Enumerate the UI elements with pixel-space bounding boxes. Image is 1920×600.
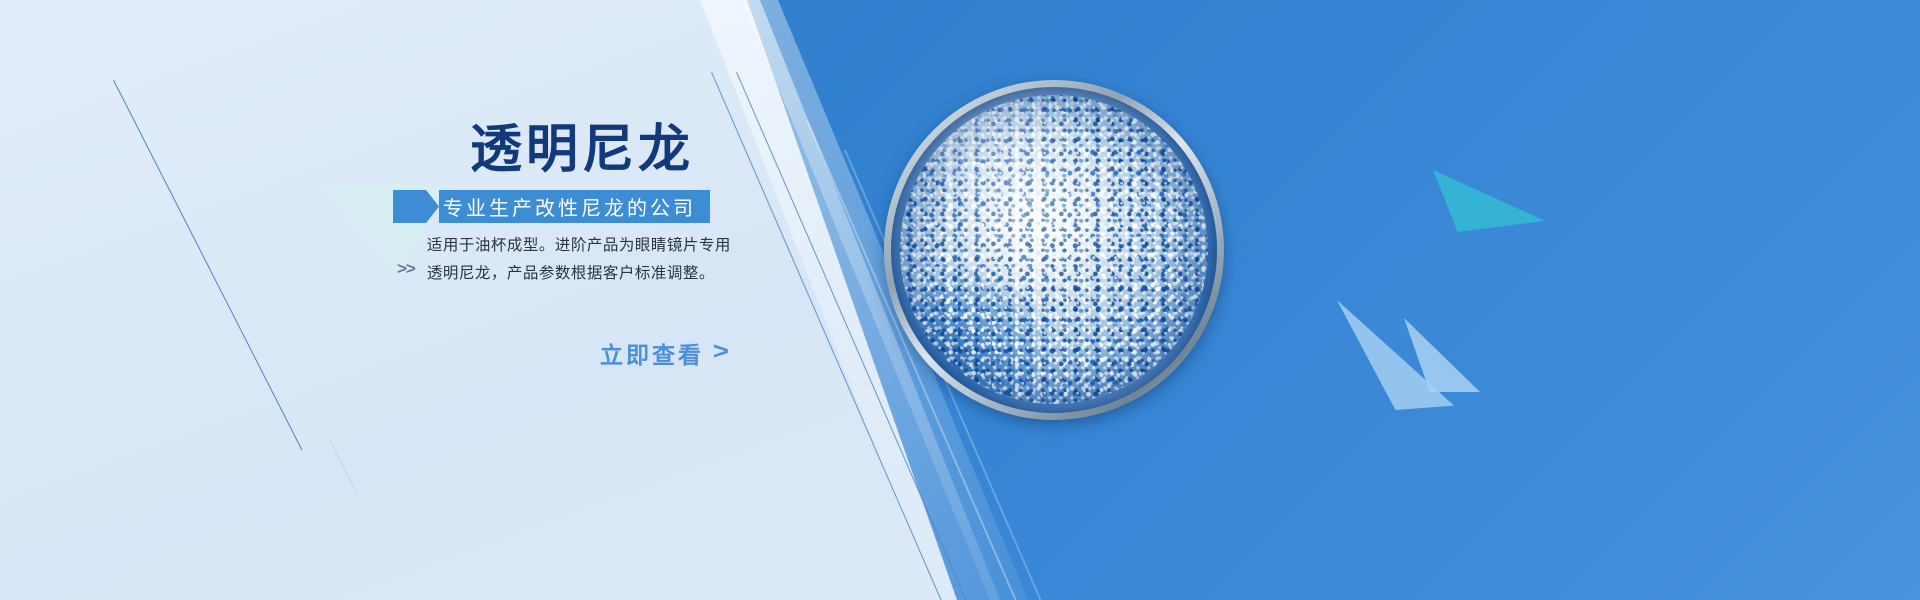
cta-view-now-button[interactable]: 立即查看 > bbox=[600, 336, 731, 370]
cta-label: 立即查看 bbox=[600, 336, 704, 370]
hero-banner: 透明尼龙 专业生产改性尼龙的公司 >> 适用于油杯成型。进阶产品为眼睛镜片专用 … bbox=[0, 0, 1920, 600]
nylon-granules-pile bbox=[900, 95, 1208, 404]
sub-banner-tag: 专业生产改性尼龙的公司 bbox=[393, 190, 710, 223]
description-text: 适用于油杯成型。进阶产品为眼睛镜片专用 透明尼龙，产品参数根据客户标准调整。 bbox=[427, 232, 731, 288]
double-chevron-icon: >> bbox=[397, 259, 415, 279]
banner-title: 透明尼龙 bbox=[470, 124, 694, 176]
dish-gloss-highlight bbox=[931, 107, 1091, 200]
chevron-right-icon: > bbox=[713, 340, 733, 364]
description-line-2: 透明尼龙，产品参数根据客户标准调整。 bbox=[427, 260, 731, 288]
description-line-1: 适用于油杯成型。进阶产品为眼睛镜片专用 bbox=[427, 232, 731, 260]
banner-content: 透明尼龙 专业生产改性尼龙的公司 >> 适用于油杯成型。进阶产品为眼睛镜片专用 … bbox=[0, 0, 760, 600]
banner-description: >> 适用于油杯成型。进阶产品为眼睛镜片专用 透明尼龙，产品参数根据客户标准调整… bbox=[397, 232, 731, 288]
sub-banner-arrow-icon bbox=[393, 190, 439, 223]
sub-banner-label: 专业生产改性尼龙的公司 bbox=[439, 190, 710, 223]
product-image-petri-dish bbox=[884, 80, 1224, 420]
